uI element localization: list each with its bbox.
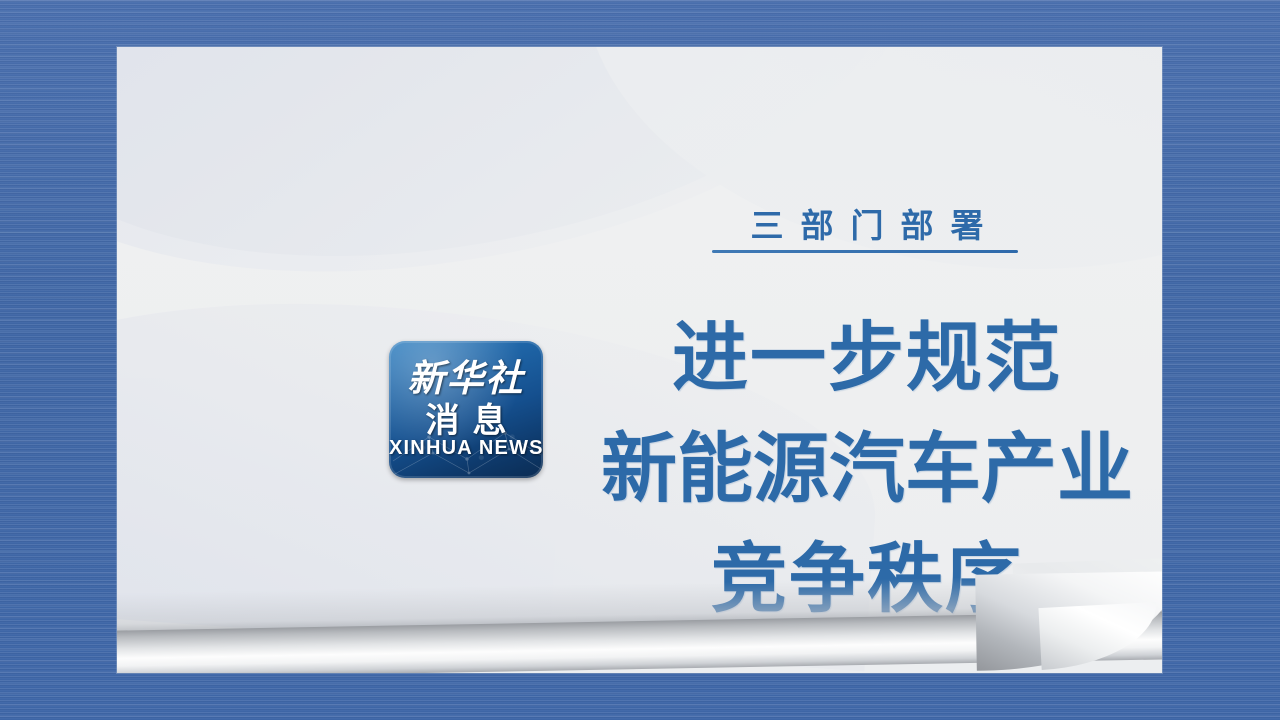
logo-chinese-line2: 消息 bbox=[389, 393, 543, 442]
headline-line-2: 新能源汽车产业 bbox=[547, 407, 1162, 517]
wave-decoration-top-left-edge bbox=[117, 47, 930, 317]
logo-english-label: XINHUA NEWS bbox=[389, 437, 543, 460]
headline-line-3: 竞争秩序 bbox=[547, 517, 1162, 627]
xinhua-news-logo: 新华社 消息 XINHUA NEWS bbox=[389, 341, 543, 478]
slide-canvas: 新华社 消息 XINHUA NEWS 三部门部署 进一步规范 新能源汽车产业 竞… bbox=[0, 0, 1280, 720]
eyebrow-text: 三部门部署 bbox=[657, 199, 1077, 247]
eyebrow-underline bbox=[712, 250, 1018, 253]
headline-line-1: 进一步规范 bbox=[547, 296, 1162, 406]
wave-decoration-top-right bbox=[557, 47, 1162, 308]
news-card: 新华社 消息 XINHUA NEWS 三部门部署 进一步规范 新能源汽车产业 竞… bbox=[117, 47, 1162, 673]
wave-decoration-top-left bbox=[117, 47, 920, 300]
